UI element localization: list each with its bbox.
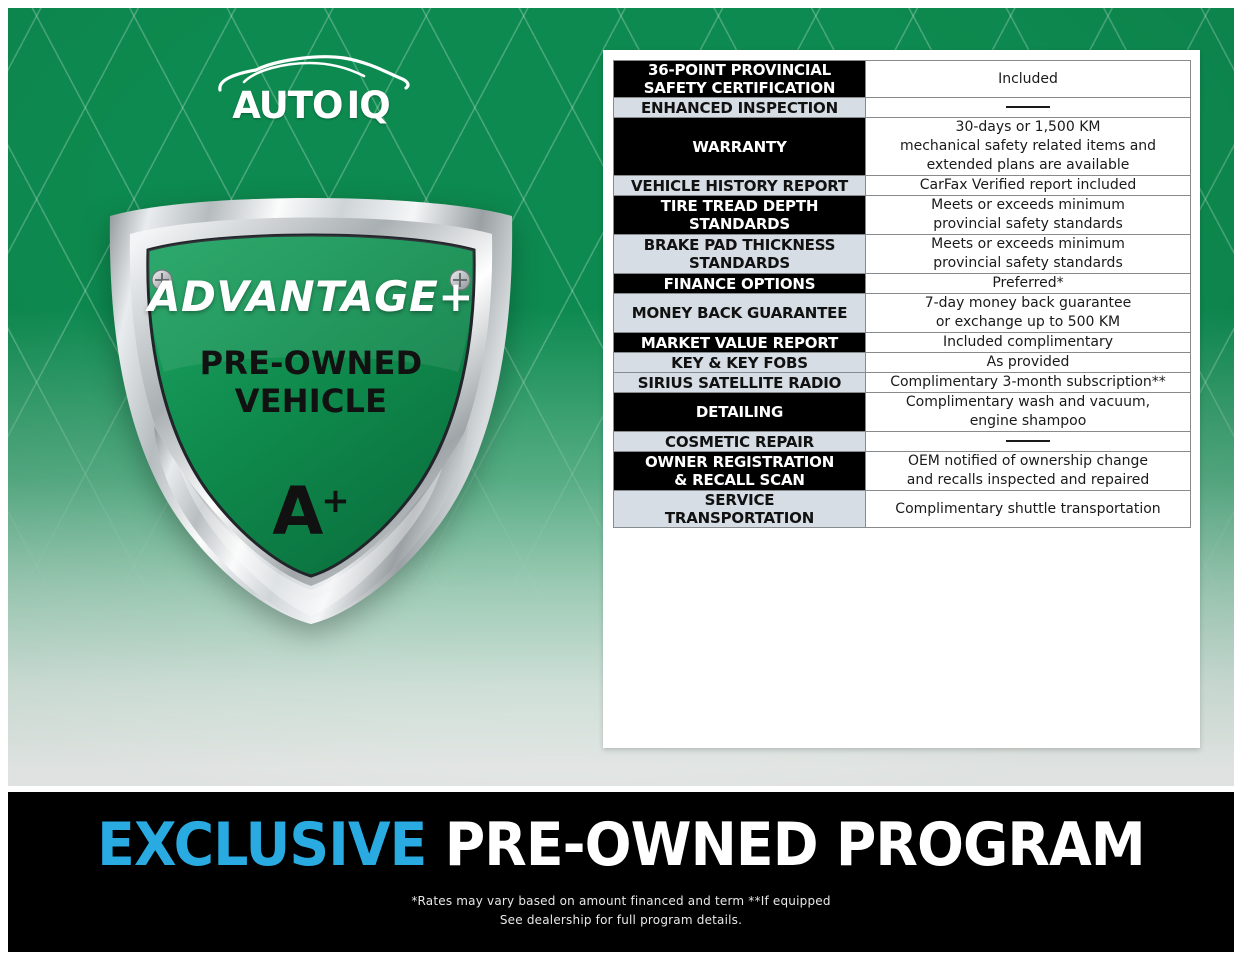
value-cell: 7-day money back guaranteeor exchange up… <box>866 294 1191 333</box>
value-line: 7-day money back guarantee <box>866 294 1190 313</box>
feature-line: & RECALL SCAN <box>614 471 865 489</box>
banner-headline-rest: PRE-OWNED PROGRAM <box>445 810 1145 880</box>
table-row: WARRANTY30-days or 1,500 KMmechanical sa… <box>614 118 1191 176</box>
feature-line: WARRANTY <box>614 138 865 156</box>
value-line: mechanical safety related items and <box>866 137 1190 156</box>
table-row: KEY & KEY FOBSAs provided <box>614 353 1191 373</box>
value-line: Meets or exceeds minimum <box>866 235 1190 254</box>
table-row: OWNER REGISTRATION& RECALL SCANOEM notif… <box>614 452 1191 491</box>
program-features-table-frame: 36-POINT PROVINCIALSAFETY CERTIFICATIONI… <box>603 50 1200 748</box>
table-row: TIRE TREAD DEPTHSTANDARDSMeets or exceed… <box>614 196 1191 235</box>
screw-right-icon <box>450 270 470 290</box>
table-row: FINANCE OPTIONSPreferred* <box>614 274 1191 294</box>
feature-line: MONEY BACK GUARANTEE <box>614 304 865 322</box>
feature-line: VEHICLE HISTORY REPORT <box>614 177 865 195</box>
value-cell: As provided <box>866 353 1191 373</box>
value-cell: Meets or exceeds minimumprovincial safet… <box>866 196 1191 235</box>
autoiq-logo-text: AUTOIQ <box>196 84 426 128</box>
feature-line: SAFETY CERTIFICATION <box>614 79 865 97</box>
value-line: CarFax Verified report included <box>866 176 1190 195</box>
value-dash-icon <box>1006 440 1050 442</box>
feature-line: STANDARDS <box>614 215 865 233</box>
feature-line: BRAKE PAD THICKNESS <box>614 236 865 254</box>
feature-line: STANDARDS <box>614 254 865 272</box>
feature-cell: SIRIUS SATELLITE RADIO <box>614 373 866 393</box>
advantage-shield-badge: ADVANTAGE+ PRE-OWNED VEHICLE A+ <box>96 176 526 626</box>
value-cell: CarFax Verified report included <box>866 176 1191 196</box>
value-cell: Complimentary wash and vacuum,engine sha… <box>866 393 1191 432</box>
table-row: 36-POINT PROVINCIALSAFETY CERTIFICATIONI… <box>614 61 1191 98</box>
value-line: Preferred* <box>866 274 1190 293</box>
value-line: OEM notified of ownership change <box>866 452 1190 471</box>
value-line: engine shampoo <box>866 412 1190 431</box>
value-line: Complimentary shuttle transportation <box>866 500 1190 519</box>
value-cell: Preferred* <box>866 274 1191 294</box>
feature-cell: MARKET VALUE REPORT <box>614 333 866 353</box>
feature-cell: WARRANTY <box>614 118 866 176</box>
logo-word-auto: AUTO <box>232 84 342 127</box>
table-row: SIRIUS SATELLITE RADIOComplimentary 3-mo… <box>614 373 1191 393</box>
value-line: and recalls inspected and repaired <box>866 471 1190 490</box>
value-line: Complimentary 3-month subscription** <box>866 373 1190 392</box>
feature-line: TIRE TREAD DEPTH <box>614 197 865 215</box>
logo-word-iq: IQ <box>347 84 390 127</box>
value-cell <box>866 98 1191 118</box>
value-cell: Included complimentary <box>866 333 1191 353</box>
table-row: MONEY BACK GUARANTEE7-day money back gua… <box>614 294 1191 333</box>
feature-cell: VEHICLE HISTORY REPORT <box>614 176 866 196</box>
table-row: COSMETIC REPAIR <box>614 432 1191 452</box>
feature-cell: SERVICETRANSPORTATION <box>614 491 866 528</box>
value-line: provincial safety standards <box>866 215 1190 234</box>
feature-line: 36-POINT PROVINCIAL <box>614 61 865 79</box>
feature-line: COSMETIC REPAIR <box>614 433 865 451</box>
advantage-plus-pre-owned-poster: AUTOIQ <box>0 0 1242 960</box>
value-line: Included <box>866 70 1190 89</box>
table-row: MARKET VALUE REPORTIncluded complimentar… <box>614 333 1191 353</box>
fine-print-line-1: *Rates may vary based on amount financed… <box>8 892 1234 911</box>
banner-headline: EXCLUSIVE PRE-OWNED PROGRAM <box>57 812 1185 878</box>
bottom-banner: EXCLUSIVE PRE-OWNED PROGRAM *Rates may v… <box>8 792 1234 952</box>
value-cell: Included <box>866 61 1191 98</box>
value-line: Meets or exceeds minimum <box>866 196 1190 215</box>
value-cell: OEM notified of ownership changeand reca… <box>866 452 1191 491</box>
shield-graphic <box>96 176 526 626</box>
feature-cell: TIRE TREAD DEPTHSTANDARDS <box>614 196 866 235</box>
value-line: provincial safety standards <box>866 254 1190 273</box>
feature-cell: OWNER REGISTRATION& RECALL SCAN <box>614 452 866 491</box>
banner-headline-highlight: EXCLUSIVE <box>97 810 426 880</box>
table-row: DETAILINGComplimentary wash and vacuum,e… <box>614 393 1191 432</box>
value-cell: Complimentary 3-month subscription** <box>866 373 1191 393</box>
feature-cell: 36-POINT PROVINCIALSAFETY CERTIFICATION <box>614 61 866 98</box>
value-line: or exchange up to 500 KM <box>866 313 1190 332</box>
table-row: BRAKE PAD THICKNESSSTANDARDSMeets or exc… <box>614 235 1191 274</box>
value-line: Included complimentary <box>866 333 1190 352</box>
program-features-table: 36-POINT PROVINCIALSAFETY CERTIFICATIONI… <box>613 60 1191 528</box>
feature-line: SERVICE <box>614 491 865 509</box>
value-line: 30-days or 1,500 KM <box>866 118 1190 137</box>
value-cell: 30-days or 1,500 KMmechanical safety rel… <box>866 118 1191 176</box>
value-line: Complimentary wash and vacuum, <box>866 393 1190 412</box>
feature-line: ENHANCED INSPECTION <box>614 99 865 117</box>
table-row: SERVICETRANSPORTATIONComplimentary shutt… <box>614 491 1191 528</box>
autoiq-logo: AUTOIQ <box>196 54 426 136</box>
feature-cell: ENHANCED INSPECTION <box>614 98 866 118</box>
value-line: extended plans are available <box>866 156 1190 175</box>
banner-fine-print: *Rates may vary based on amount financed… <box>8 892 1234 930</box>
table-row: ENHANCED INSPECTION <box>614 98 1191 118</box>
feature-line: FINANCE OPTIONS <box>614 275 865 293</box>
value-dash-icon <box>1006 106 1050 108</box>
feature-line: OWNER REGISTRATION <box>614 453 865 471</box>
screw-left-icon <box>152 270 172 290</box>
value-cell: Meets or exceeds minimumprovincial safet… <box>866 235 1191 274</box>
feature-cell: FINANCE OPTIONS <box>614 274 866 294</box>
value-line: As provided <box>866 353 1190 372</box>
value-cell: Complimentary shuttle transportation <box>866 491 1191 528</box>
feature-cell: MONEY BACK GUARANTEE <box>614 294 866 333</box>
value-cell <box>866 432 1191 452</box>
table-body: 36-POINT PROVINCIALSAFETY CERTIFICATIONI… <box>614 61 1191 528</box>
fine-print-line-2: See dealership for full program details. <box>8 911 1234 930</box>
feature-line: MARKET VALUE REPORT <box>614 334 865 352</box>
feature-cell: COSMETIC REPAIR <box>614 432 866 452</box>
feature-line: TRANSPORTATION <box>614 509 865 527</box>
feature-line: SIRIUS SATELLITE RADIO <box>614 374 865 392</box>
feature-cell: DETAILING <box>614 393 866 432</box>
feature-cell: KEY & KEY FOBS <box>614 353 866 373</box>
feature-cell: BRAKE PAD THICKNESSSTANDARDS <box>614 235 866 274</box>
table-row: VEHICLE HISTORY REPORTCarFax Verified re… <box>614 176 1191 196</box>
feature-line: DETAILING <box>614 403 865 421</box>
feature-line: KEY & KEY FOBS <box>614 354 865 372</box>
